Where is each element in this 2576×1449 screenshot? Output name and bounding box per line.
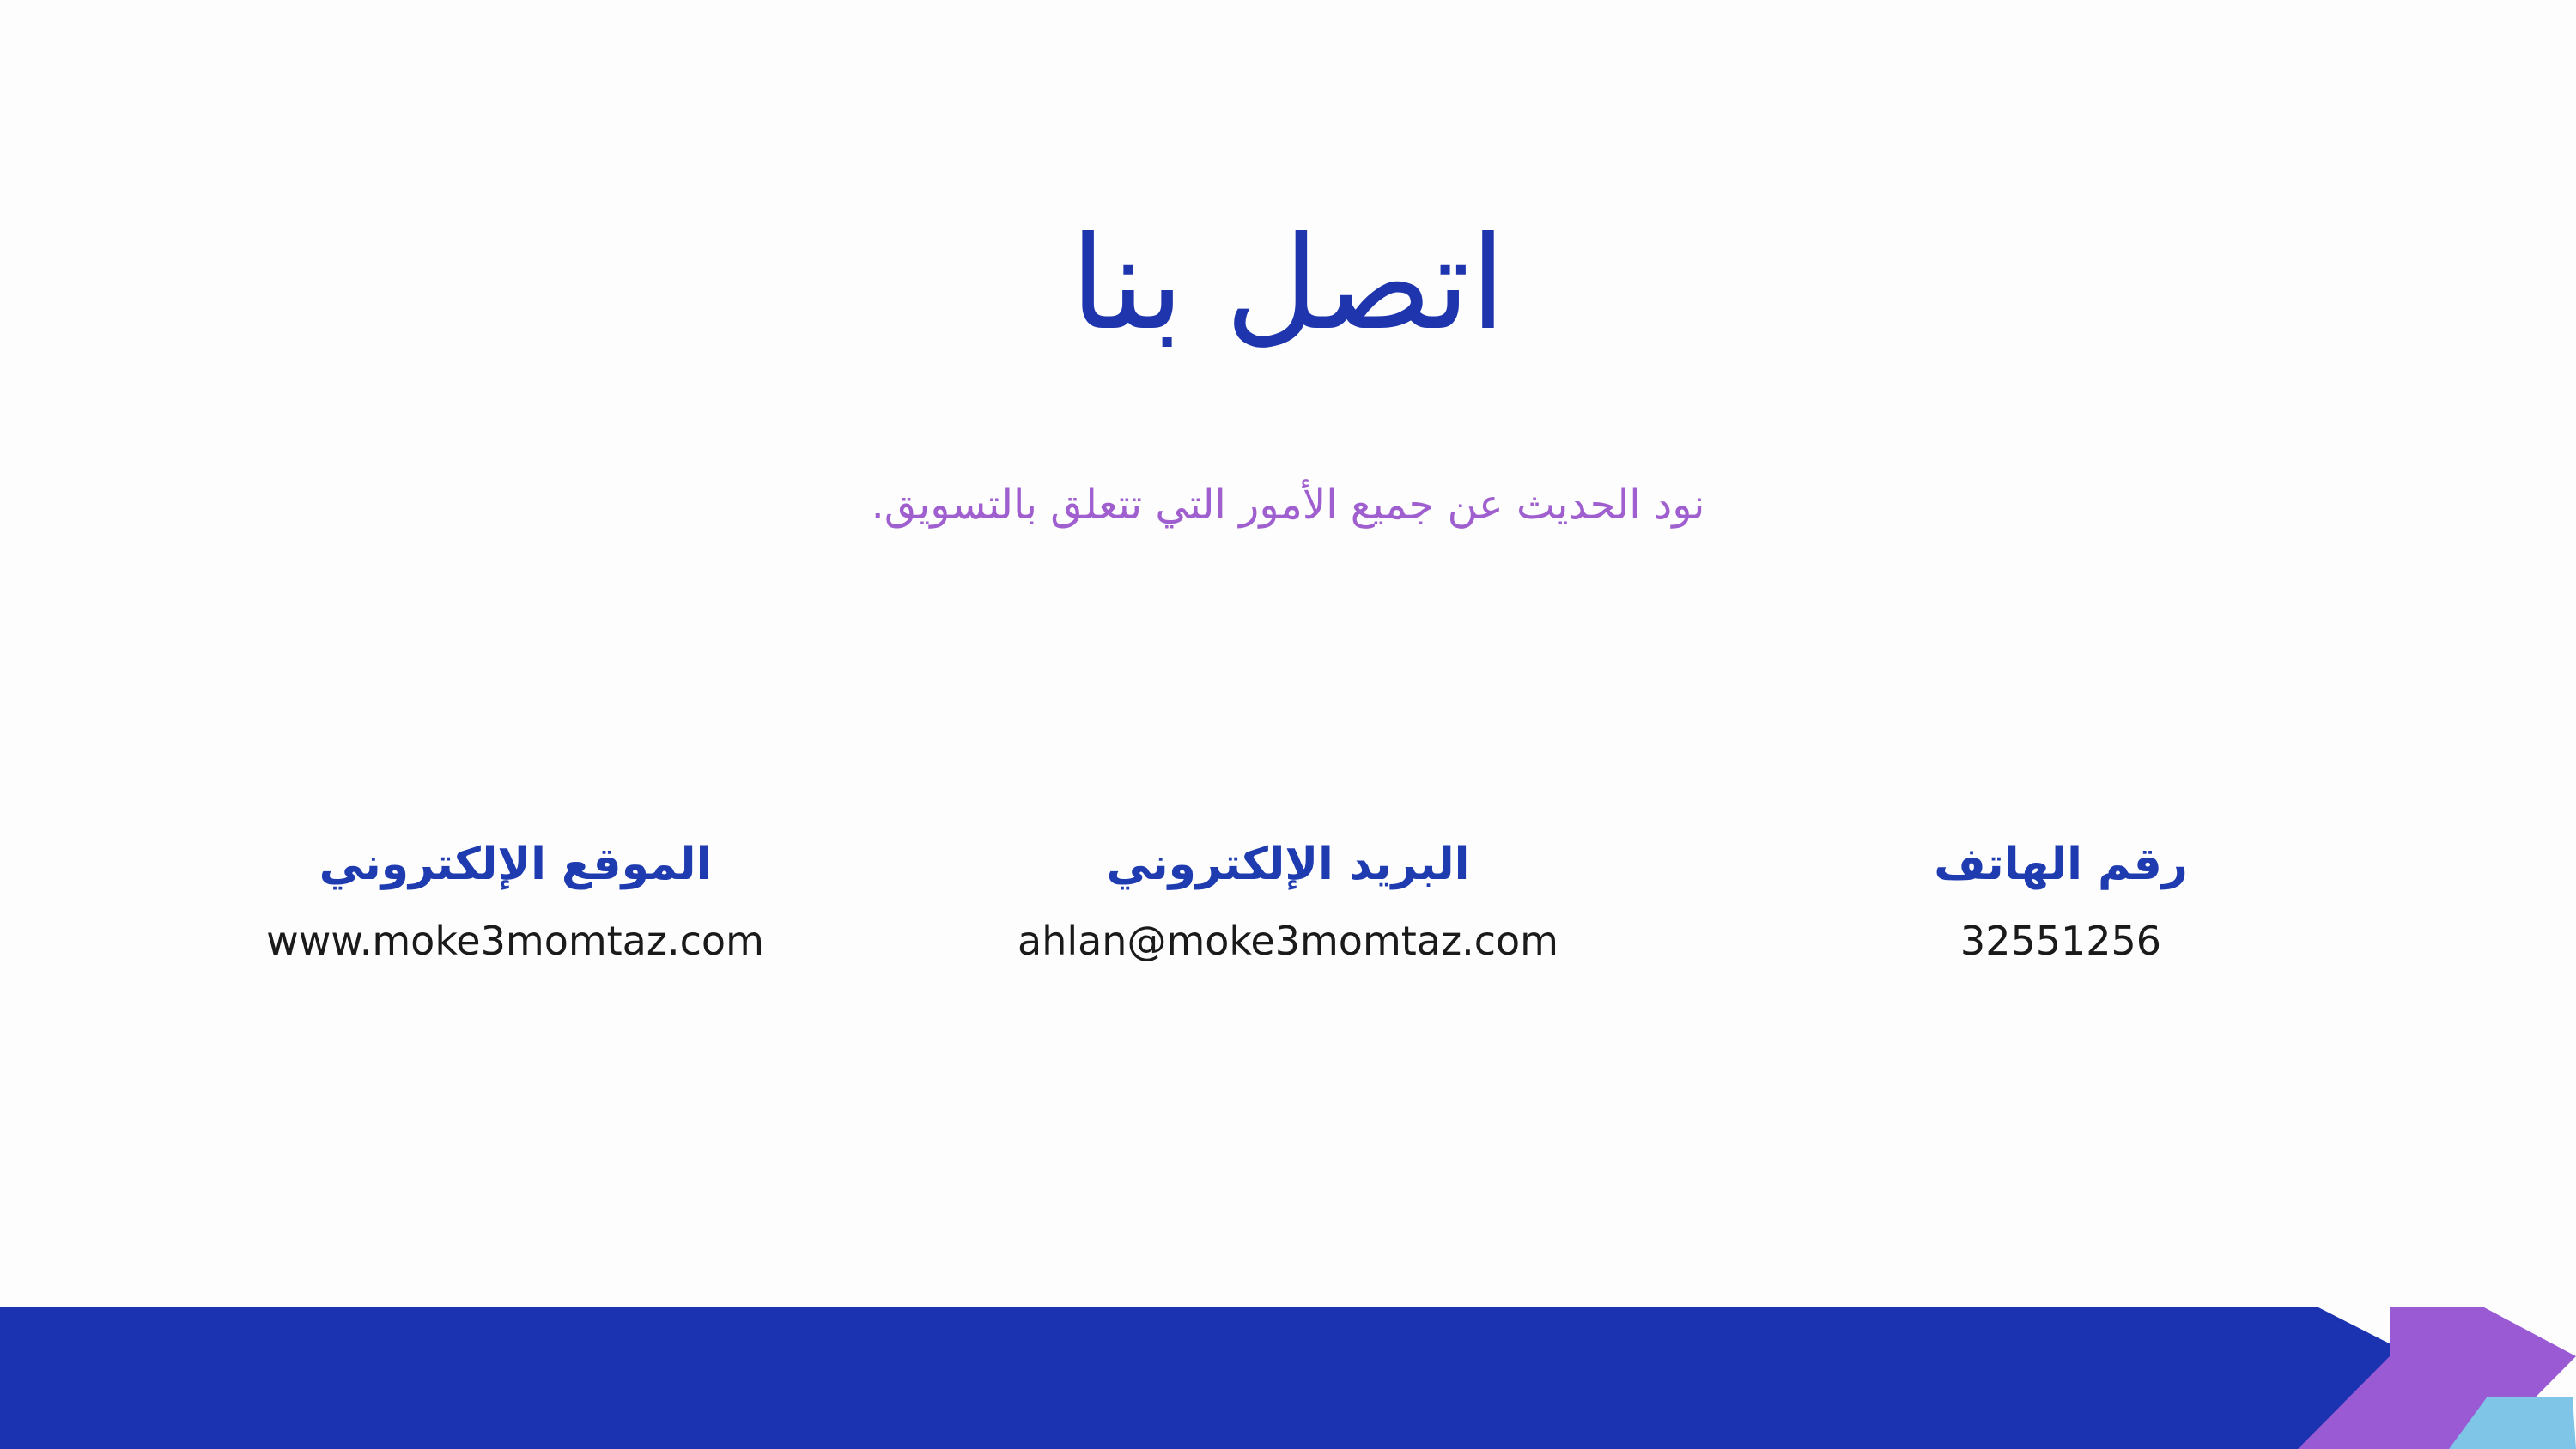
contact-column-phone: رقم الهاتف 32551256: [1674, 837, 2447, 967]
footer-decoration-svg: [0, 1277, 2576, 1449]
page-title: اتصل بنا: [0, 206, 2576, 363]
footer-blue-bar-shape: [0, 1307, 2415, 1449]
contact-column-email: البريد الإلكتروني ahlan@moke3momtaz.com: [902, 837, 1674, 967]
contact-slide: اتصل بنا نود الحديث عن جميع الأمور التي …: [0, 0, 2576, 1449]
contact-label-email: البريد الإلكتروني: [902, 837, 1674, 893]
footer-decoration: [0, 1277, 2576, 1449]
contact-value-website[interactable]: www.moke3momtaz.com: [129, 917, 902, 967]
headline-block: اتصل بنا: [0, 206, 2576, 363]
contact-value-email[interactable]: ahlan@moke3momtaz.com: [902, 917, 1674, 967]
contact-column-website: الموقع الإلكتروني www.moke3momtaz.com: [129, 837, 902, 967]
contact-value-phone[interactable]: 32551256: [1674, 917, 2447, 967]
footer-lightblue-trapezoid-shape: [2449, 1397, 2576, 1449]
contact-details-row: الموقع الإلكتروني www.moke3momtaz.com ال…: [129, 837, 2447, 967]
contact-label-phone: رقم الهاتف: [1674, 837, 2447, 893]
page-subtitle: نود الحديث عن جميع الأمور التي تتعلق بال…: [0, 478, 2576, 531]
contact-label-website: الموقع الإلكتروني: [129, 837, 902, 893]
footer-purple-chevron-shape: [2298, 1307, 2576, 1449]
